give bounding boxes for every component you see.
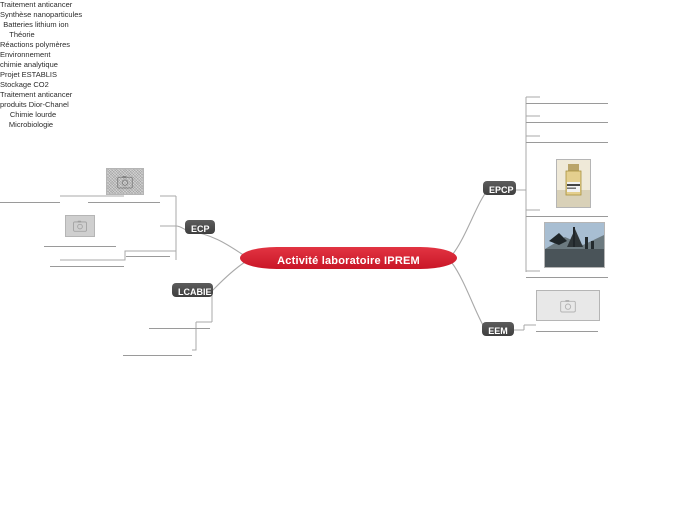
leaf-node-synthese-nanoparticules[interactable]: Synthèse nanoparticules xyxy=(0,10,72,20)
leaf-node-chimie-analytique[interactable]: chimie analytique xyxy=(0,60,66,70)
leaf-underline xyxy=(526,122,608,123)
leaf-label: Stockage CO2 xyxy=(0,80,49,89)
image-synthese-nanoparticules[interactable] xyxy=(106,168,144,195)
branch-node-epcp[interactable]: EPCP xyxy=(483,181,516,195)
leaf-underline xyxy=(0,202,60,203)
leaf-node-traitement-anticancer-epcp[interactable]: Traitement anticancer xyxy=(0,90,75,100)
image-produits-dior-chanel[interactable] xyxy=(556,159,591,208)
leaf-underline xyxy=(526,103,608,104)
leaf-label: Chimie lourde xyxy=(10,110,56,119)
leaf-node-chimie-lourde[interactable]: Chimie lourde xyxy=(0,110,66,120)
leaf-label: Traitement anticancer xyxy=(0,90,72,99)
leaf-label: Environnement xyxy=(0,50,50,59)
photo-thumbnail-icon xyxy=(117,175,133,189)
leaf-label: Réactions polymères xyxy=(0,40,70,49)
leaf-node-traitement-anticancer-ecp[interactable]: Traitement anticancer xyxy=(0,0,62,10)
branch-node-lcabie[interactable]: LCABIE xyxy=(172,283,213,297)
branch-node-lcabie-label: LCABIE xyxy=(178,287,212,297)
leaf-underline xyxy=(44,246,116,247)
leaf-underline xyxy=(526,277,608,278)
leaf-label: Projet ESTABLIS xyxy=(0,70,57,79)
leaf-label: Traitement anticancer xyxy=(0,0,72,9)
leaf-node-produits-dior-chanel[interactable]: produits Dior-Chanel xyxy=(0,100,66,110)
branch-node-ecp-label: ECP xyxy=(191,224,210,234)
image-chimie-lourde[interactable] xyxy=(544,222,605,268)
photo-placeholder-icon xyxy=(73,220,87,232)
photo-placeholder-icon xyxy=(560,299,576,313)
oil-pump-jack-icon xyxy=(545,223,604,267)
leaf-underline xyxy=(536,331,598,332)
mindmap-canvas: Activité laboratoire IPREM ECP Traitemen… xyxy=(0,0,697,520)
leaf-underline xyxy=(88,202,160,203)
branch-node-eem-label: EEM xyxy=(488,326,508,336)
leaf-underline xyxy=(526,216,608,217)
leaf-underline xyxy=(50,266,124,267)
leaf-underline xyxy=(149,328,210,329)
leaf-underline xyxy=(526,142,608,143)
leaf-label: Microbiologie xyxy=(9,120,53,129)
leaf-label: chimie analytique xyxy=(0,60,58,69)
image-batteries-lithium-ion[interactable] xyxy=(65,215,95,237)
branch-node-epcp-label: EPCP xyxy=(489,185,514,195)
root-node-activite-laboratoire-iprem[interactable]: Activité laboratoire IPREM xyxy=(240,247,457,269)
branch-node-ecp[interactable]: ECP xyxy=(185,220,215,234)
leaf-label: Batteries lithium ion xyxy=(3,20,68,29)
leaf-node-stockage-co2[interactable]: Stockage CO2 xyxy=(0,80,70,90)
perfume-bottle-icon xyxy=(557,160,590,207)
leaf-label: produits Dior-Chanel xyxy=(0,100,69,109)
leaf-underline xyxy=(126,256,170,257)
leaf-node-reactions-polymeres[interactable]: Réactions polymères xyxy=(0,40,70,50)
leaf-node-microbiologie[interactable]: Microbiologie xyxy=(0,120,62,130)
leaf-label: Synthèse nanoparticules xyxy=(0,10,82,19)
branch-node-eem[interactable]: EEM xyxy=(482,322,514,336)
leaf-node-batteries-lithium-ion[interactable]: Batteries lithium ion xyxy=(0,20,72,30)
leaf-node-theorie[interactable]: Théorie xyxy=(0,30,44,40)
leaf-node-projet-establis[interactable]: Projet ESTABLIS xyxy=(0,70,70,80)
leaf-underline xyxy=(123,355,192,356)
root-node-label: Activité laboratoire IPREM xyxy=(277,255,420,267)
image-microbiologie[interactable] xyxy=(536,290,600,321)
leaf-node-environnement[interactable]: Environnement xyxy=(0,50,60,60)
leaf-label: Théorie xyxy=(9,30,34,39)
